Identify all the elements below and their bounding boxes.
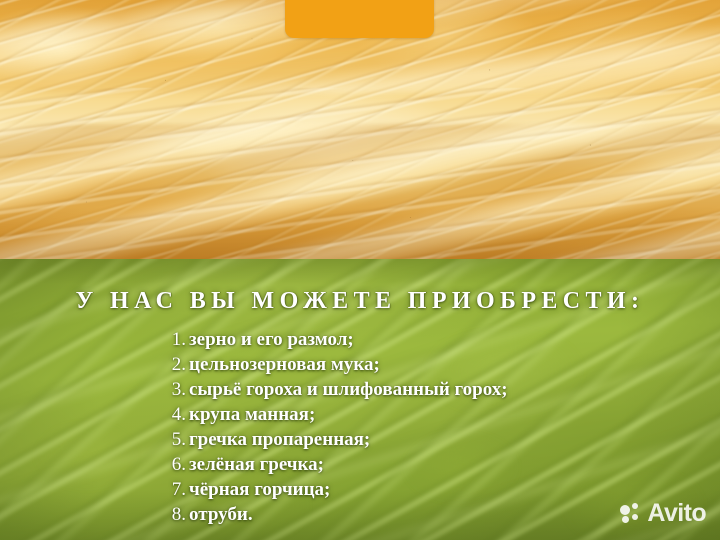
list-item-label: гречка пропаренная; [189, 427, 370, 452]
headline: У НАС ВЫ МОЖЕТЕ ПРИОБРЕСТИ: [0, 287, 720, 315]
list-item: 7. чёрная горчица; [0, 477, 720, 502]
list-item-number: 6. [166, 452, 186, 477]
list-item-number: 4. [166, 402, 186, 427]
list-item: 1. зерно и его размол; [0, 327, 720, 352]
list-item-number: 5. [166, 427, 186, 452]
list-item-label: отруби. [189, 502, 253, 527]
list-item-number: 1. [166, 327, 186, 352]
list-item-label: зерно и его размол; [189, 327, 354, 352]
list-item: 2. цельнозерновая мука; [0, 352, 720, 377]
poster-content: У НАС ВЫ МОЖЕТЕ ПРИОБРЕСТИ: 1. зерно и е… [0, 0, 720, 540]
list-item: 8. отруби. [0, 502, 720, 527]
list-item-label: зелёная гречка; [189, 452, 324, 477]
avito-wordmark: Avito [647, 501, 706, 526]
list-item: 5. гречка пропаренная; [0, 427, 720, 452]
list-item: 3. сырьё гороха и шлифованный горох; [0, 377, 720, 402]
avito-watermark: Avito [620, 501, 706, 526]
product-list: 1. зерно и его размол; 2. цельнозерновая… [0, 327, 720, 527]
advertisement-poster: У НАС ВЫ МОЖЕТЕ ПРИОБРЕСТИ: 1. зерно и е… [0, 0, 720, 540]
list-item-label: чёрная горчица; [189, 477, 330, 502]
list-item-number: 7. [166, 477, 186, 502]
list-item: 6. зелёная гречка; [0, 452, 720, 477]
list-item-label: цельнозерновая мука; [189, 352, 380, 377]
avito-dots-icon [620, 503, 642, 524]
list-item: 4. крупа манная; [0, 402, 720, 427]
list-item-number: 3. [166, 377, 186, 402]
list-item-number: 2. [166, 352, 186, 377]
list-item-label: крупа манная; [189, 402, 315, 427]
list-item-number: 8. [166, 502, 186, 527]
list-item-label: сырьё гороха и шлифованный горох; [189, 377, 508, 402]
